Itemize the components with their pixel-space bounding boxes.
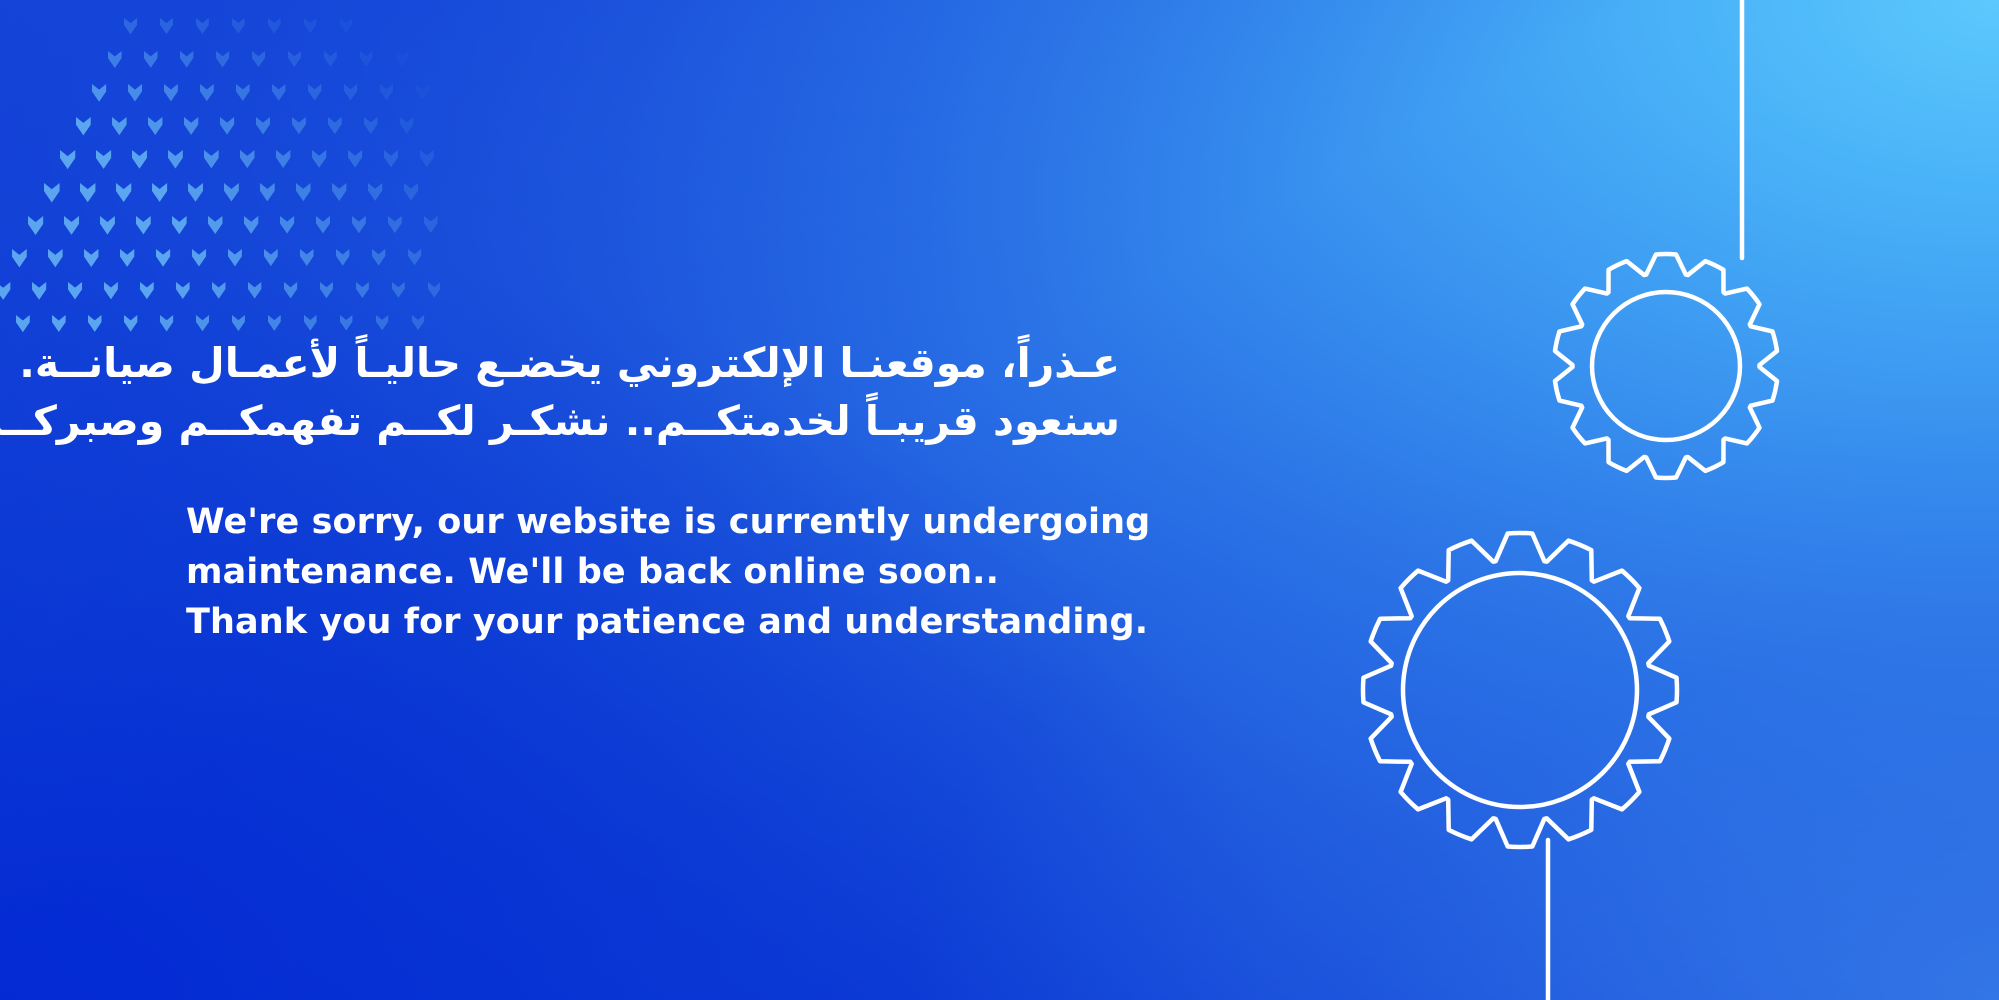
english-line-3: Thank you for your patience and understa…	[186, 598, 1136, 648]
english-line-2: maintenance. We'll be back online soon..	[186, 548, 1136, 598]
maintenance-message: عـذراً، موقعنـا الإلكتروني يخضـع حاليـاً…	[186, 334, 1136, 648]
arabic-line-2: سنعود قريبـاً لخدمتكــم.. نشكـر لكــم تف…	[186, 392, 1120, 450]
maintenance-page: عـذراً، موقعنـا الإلكتروني يخضـع حاليـاً…	[0, 0, 1999, 1000]
arabic-line-1: عـذراً، موقعنـا الإلكتروني يخضـع حاليـاً…	[186, 334, 1120, 392]
english-line-1: We're sorry, our website is currently un…	[186, 498, 1136, 548]
message-english: We're sorry, our website is currently un…	[186, 498, 1136, 647]
message-arabic: عـذراً، موقعنـا الإلكتروني يخضـع حاليـاً…	[186, 334, 1120, 450]
